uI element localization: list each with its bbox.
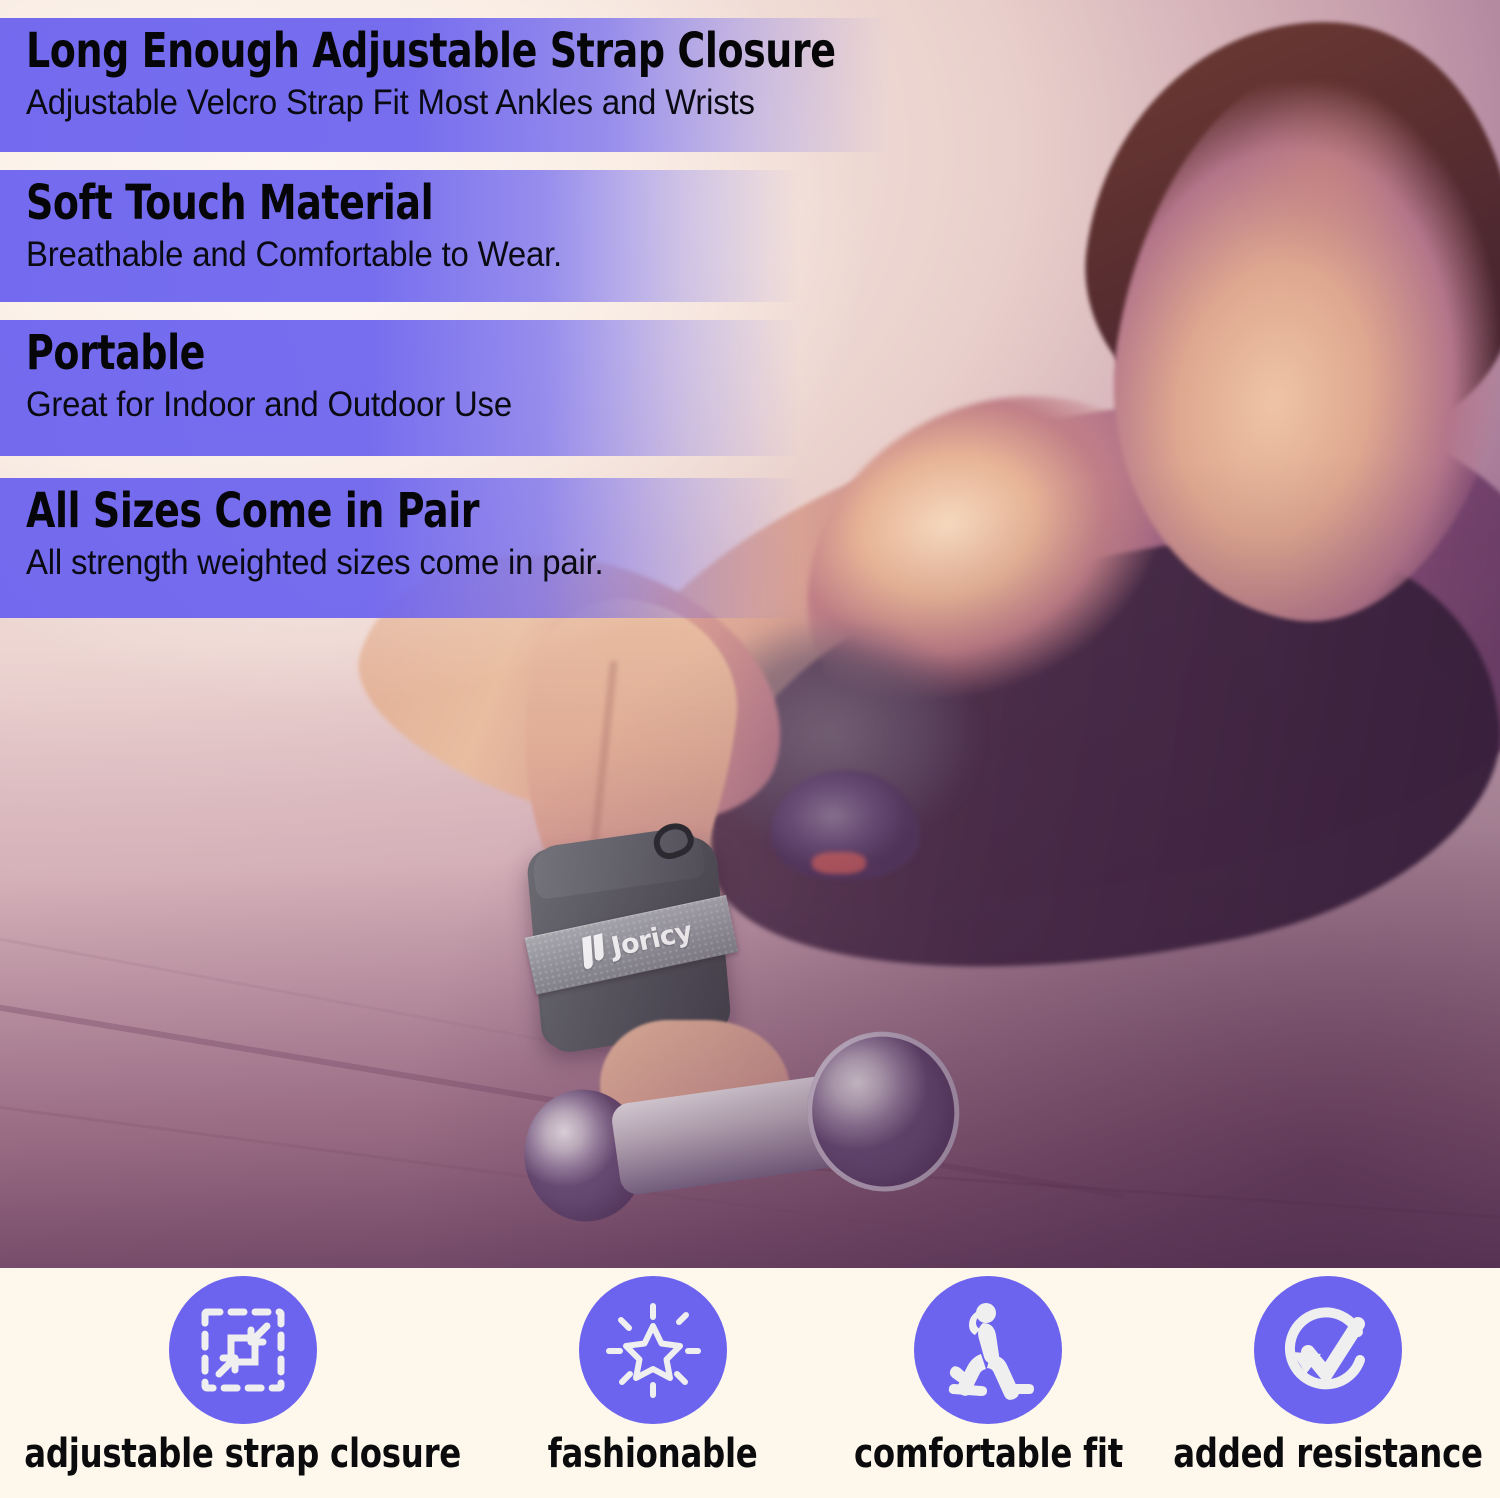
feature-subtitle: Adjustable Velcro Strap Fit Most Ankles …	[26, 82, 838, 124]
dumbbell-head-rim	[797, 1022, 970, 1202]
benefit-label: added resistance	[1173, 1434, 1483, 1474]
feature-title: Portable	[26, 326, 707, 382]
person-stretching-icon	[914, 1276, 1062, 1424]
wrist-weight-product: Joricy	[526, 834, 733, 1050]
product-feature-graphic: Joricy Long Enough Adjustable Strap Clos…	[0, 0, 1500, 1498]
feature-subtitle: Breathable and Comfortable to Wear.	[26, 234, 754, 276]
benefit-label: fashionable	[548, 1434, 758, 1474]
brand-swoosh-icon	[578, 932, 611, 971]
feature-title: Soft Touch Material	[26, 176, 707, 232]
benefit-item: adjustable strap closure	[0, 1268, 485, 1474]
sparkle-star-icon	[579, 1276, 727, 1424]
benefit-label: comfortable fit	[854, 1434, 1123, 1474]
feature-banner: Soft Touch Material Breathable and Comfo…	[0, 170, 800, 302]
benefit-item: comfortable fit	[821, 1268, 1156, 1474]
shoe-accent	[812, 852, 866, 874]
feature-banner: All Sizes Come in Pair All strength weig…	[0, 478, 800, 618]
feature-subtitle: Great for Indoor and Outdoor Use	[26, 384, 754, 426]
resize-fit-icon	[169, 1276, 317, 1424]
feature-banner: Portable Great for Indoor and Outdoor Us…	[0, 320, 800, 456]
benefit-item: added resistance	[1156, 1268, 1500, 1474]
benefit-item: fashionable	[485, 1268, 820, 1474]
check-refresh-icon	[1254, 1276, 1402, 1424]
benefit-icon-strip: adjustable strap closure	[0, 1268, 1500, 1498]
hair-highlight	[1200, 70, 1460, 320]
feature-title: Long Enough Adjustable Strap Closure	[26, 24, 786, 80]
feature-title: All Sizes Come in Pair	[26, 484, 707, 540]
feature-subtitle: All strength weighted sizes come in pair…	[26, 542, 754, 584]
benefit-label: adjustable strap closure	[24, 1434, 461, 1474]
feature-banner: Long Enough Adjustable Strap Closure Adj…	[0, 18, 890, 152]
